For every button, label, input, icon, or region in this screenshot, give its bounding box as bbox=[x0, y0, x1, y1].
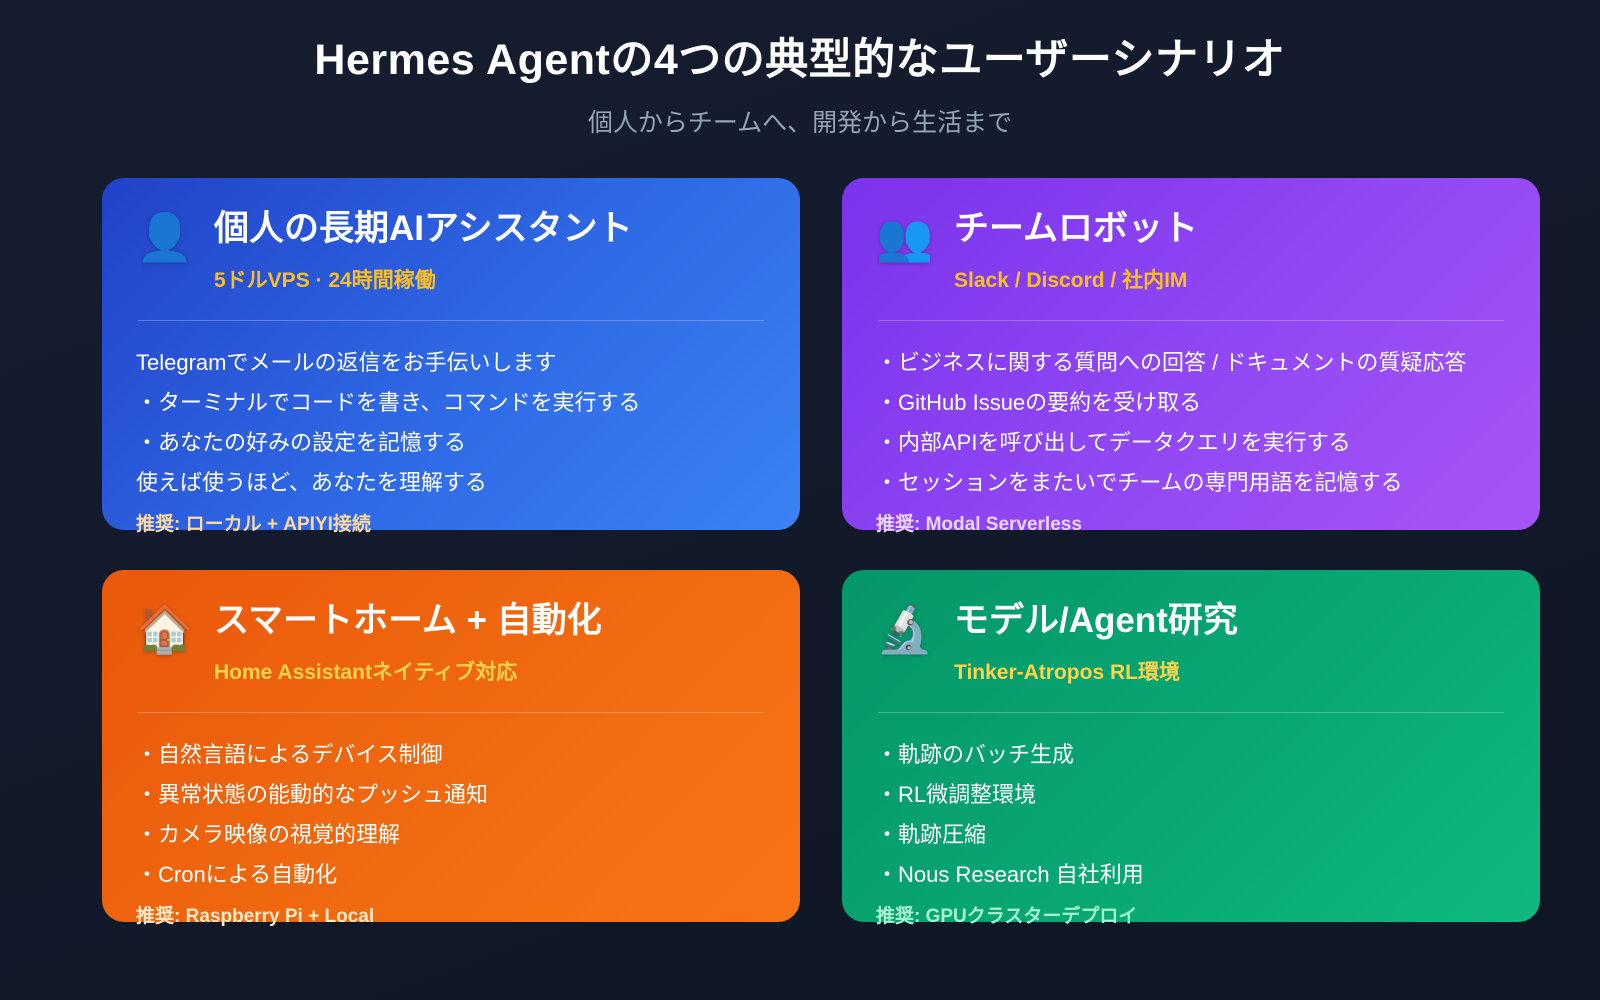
list-item: ・異常状態の能動的なプッシュ通知 bbox=[136, 775, 766, 815]
list-item: ・ターミナルでコードを書き、コマンドを実行する bbox=[136, 383, 766, 423]
page-subtitle: 個人からチームへ、開発から生活まで bbox=[0, 103, 1600, 139]
list-item: ・GitHub Issueの要約を受け取る bbox=[876, 383, 1506, 423]
list-item: ・軌跡圧縮 bbox=[876, 815, 1506, 855]
card-body: ・ビジネスに関する質問への回答 / ドキュメントの質疑応答 ・GitHub Is… bbox=[876, 343, 1506, 536]
list-item: ・自然言語によるデバイス制御 bbox=[136, 735, 766, 775]
card-header: 👥 チームロボット Slack / Discord / 社内IM bbox=[876, 208, 1506, 294]
card-body: Telegramでメールの返信をお手伝いします ・ターミナルでコードを書き、コマ… bbox=[136, 343, 766, 536]
microscope-icon: 🔬 bbox=[876, 606, 934, 652]
card-title: チームロボット bbox=[954, 208, 1506, 251]
list-item: Telegramでメールの返信をお手伝いします bbox=[136, 343, 766, 383]
bust-in-silhouette-icon: 👤 bbox=[136, 214, 194, 260]
card-recommendation: 推奨: Raspberry Pi + Local bbox=[136, 901, 766, 928]
list-item: ・あなたの好みの設定を記憶する bbox=[136, 423, 766, 463]
card-title: モデル/Agent研究 bbox=[954, 600, 1506, 643]
card-title: スマートホーム + 自動化 bbox=[214, 600, 766, 643]
card-body: ・自然言語によるデバイス制御 ・異常状態の能動的なプッシュ通知 ・カメラ映像の視… bbox=[136, 735, 766, 928]
card-subtitle: 5ドルVPS · 24時間稼働 bbox=[214, 264, 766, 294]
card-header: 👤 個人の長期AIアシスタント 5ドルVPS · 24時間稼働 bbox=[136, 208, 766, 294]
scenario-card-team-robot[interactable]: 👥 チームロボット Slack / Discord / 社内IM ・ビジネスに関… bbox=[842, 178, 1540, 530]
card-recommendation: 推奨: Modal Serverless bbox=[876, 509, 1506, 536]
card-subtitle: Slack / Discord / 社内IM bbox=[954, 264, 1506, 294]
list-item: ・セッションをまたいでチームの専門用語を記憶する bbox=[876, 463, 1506, 503]
slide-header: Hermes Agentの4つの典型的なユーザーシナリオ 個人からチームへ、開発… bbox=[0, 0, 1600, 139]
card-header: 🏠 スマートホーム + 自動化 Home Assistantネイティブ対応 bbox=[136, 600, 766, 686]
card-divider bbox=[138, 712, 764, 713]
card-divider bbox=[878, 320, 1504, 321]
card-header: 🔬 モデル/Agent研究 Tinker-Atropos RL環境 bbox=[876, 600, 1506, 686]
list-item: ・Cronによる自動化 bbox=[136, 855, 766, 895]
card-title: 個人の長期AIアシスタント bbox=[214, 208, 766, 251]
card-divider bbox=[138, 320, 764, 321]
list-item: ・軌跡のバッチ生成 bbox=[876, 735, 1506, 775]
card-subtitle: Home Assistantネイティブ対応 bbox=[214, 656, 766, 686]
page-title: Hermes Agentの4つの典型的なユーザーシナリオ bbox=[0, 36, 1600, 85]
slide-root: Hermes Agentの4つの典型的なユーザーシナリオ 個人からチームへ、開発… bbox=[0, 0, 1600, 1000]
scenario-card-model-agent-research[interactable]: 🔬 モデル/Agent研究 Tinker-Atropos RL環境 ・軌跡のバッ… bbox=[842, 570, 1540, 922]
card-body: ・軌跡のバッチ生成 ・RL微調整環境 ・軌跡圧縮 ・Nous Research … bbox=[876, 735, 1506, 928]
card-divider bbox=[878, 712, 1504, 713]
card-recommendation: 推奨: GPUクラスターデプロイ bbox=[876, 901, 1506, 928]
list-item: ・ビジネスに関する質問への回答 / ドキュメントの質疑応答 bbox=[876, 343, 1506, 383]
list-item: ・カメラ映像の視覚的理解 bbox=[136, 815, 766, 855]
list-item: ・Nous Research 自社利用 bbox=[876, 855, 1506, 895]
list-item: ・RL微調整環境 bbox=[876, 775, 1506, 815]
list-item: 使えば使うほど、あなたを理解する bbox=[136, 463, 766, 503]
scenario-card-personal-assistant[interactable]: 👤 個人の長期AIアシスタント 5ドルVPS · 24時間稼働 Telegram… bbox=[102, 178, 800, 530]
house-icon: 🏠 bbox=[136, 606, 194, 652]
busts-in-silhouette-icon: 👥 bbox=[876, 214, 934, 260]
scenario-card-grid: 👤 個人の長期AIアシスタント 5ドルVPS · 24時間稼働 Telegram… bbox=[102, 178, 1500, 922]
list-item: ・内部APIを呼び出してデータクエリを実行する bbox=[876, 423, 1506, 463]
scenario-card-smart-home[interactable]: 🏠 スマートホーム + 自動化 Home Assistantネイティブ対応 ・自… bbox=[102, 570, 800, 922]
card-recommendation: 推奨: ローカル + APIYI接続 bbox=[136, 509, 766, 536]
card-subtitle: Tinker-Atropos RL環境 bbox=[954, 656, 1506, 686]
